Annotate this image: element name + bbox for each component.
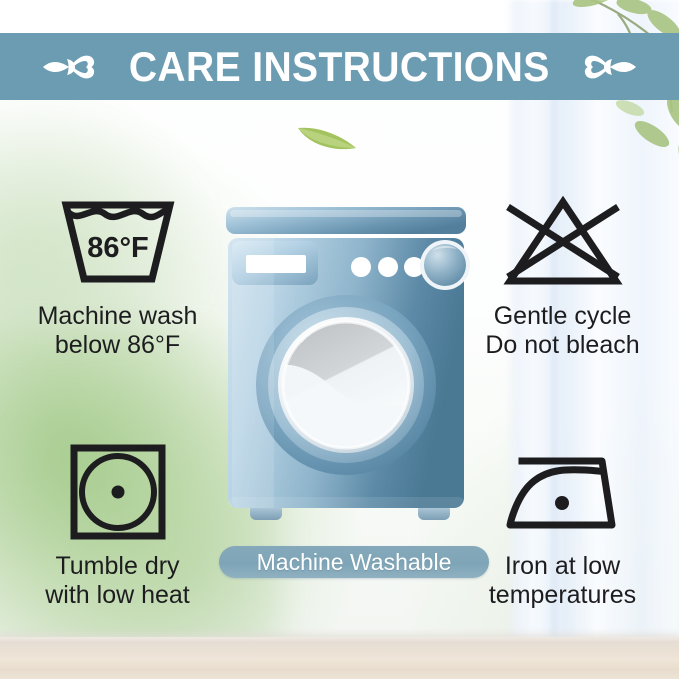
fleur-de-lis-icon-right — [584, 45, 636, 89]
care-label-tumble-dry: Tumble dry with low heat — [10, 552, 225, 610]
wash-temperature-value: 86°F — [87, 232, 149, 264]
wash-tub-icon: 86°F — [56, 193, 180, 291]
fleur-de-lis-icon-left — [43, 45, 95, 89]
machine-control-buttons — [351, 257, 424, 277]
machine-program-dial — [420, 240, 470, 290]
care-symbol-do-not-bleach: Gentle cycle Do not bleach — [455, 188, 670, 360]
iron-one-dot-icon — [500, 447, 626, 537]
machine-door — [256, 295, 436, 475]
care-label-machine-wash: Machine wash below 86°F — [10, 302, 225, 360]
tumble-dry-square-circle-icon — [68, 442, 168, 542]
floating-leaf-icon — [296, 122, 358, 152]
bleach-icon-wrapper — [455, 188, 670, 296]
badge-label: Machine Washable — [257, 551, 452, 574]
care-instructions-infographic: CARE INSTRUCTIONS 86°F Machine wash belo… — [0, 0, 679, 679]
header-banner: CARE INSTRUCTIONS — [0, 33, 679, 100]
care-label-do-not-bleach: Gentle cycle Do not bleach — [455, 302, 670, 360]
care-symbol-tumble-dry: Tumble dry with low heat — [10, 438, 225, 610]
triangle-crossed-bleach-icon — [500, 193, 626, 291]
wooden-table-surface — [0, 637, 679, 679]
page-title: CARE INSTRUCTIONS — [129, 46, 550, 88]
care-symbol-iron: Iron at low temperatures — [455, 438, 670, 610]
iron-icon-wrapper — [455, 438, 670, 546]
wash-tub-icon-wrapper: 86°F — [10, 188, 225, 296]
care-symbol-machine-wash: 86°F Machine wash below 86°F — [10, 188, 225, 360]
machine-washable-badge: Machine Washable — [219, 546, 489, 578]
tumble-dry-icon-wrapper — [10, 438, 225, 546]
washing-machine-illustration — [222, 205, 470, 535]
